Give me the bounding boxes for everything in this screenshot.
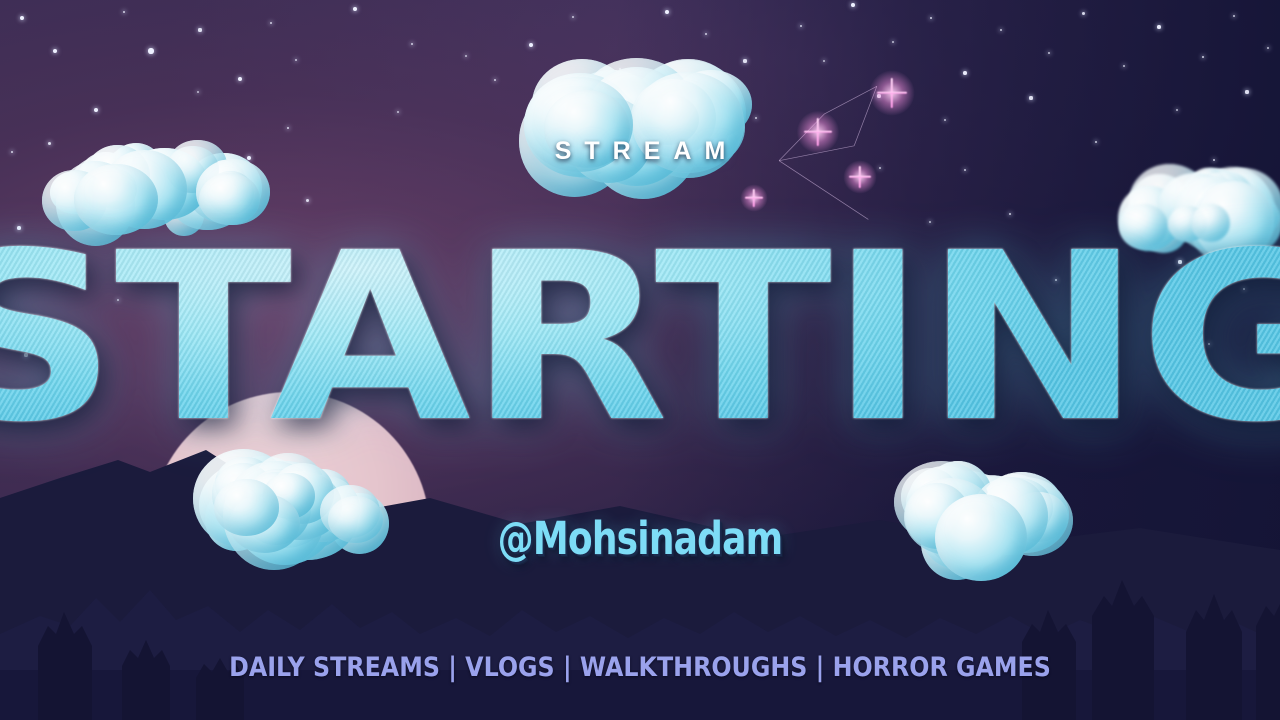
sparkle-star-icon xyxy=(849,166,871,188)
star xyxy=(1000,29,1002,31)
page-title: STARTING xyxy=(0,222,1280,454)
cloud-top-center xyxy=(506,60,750,210)
cloud-bottom-left xyxy=(186,452,412,586)
star xyxy=(572,16,574,18)
star xyxy=(287,127,290,130)
star xyxy=(1082,12,1085,15)
star xyxy=(529,43,533,47)
sparkle-star-icon xyxy=(877,78,907,108)
star xyxy=(1245,90,1248,93)
star xyxy=(851,3,855,7)
star xyxy=(238,77,243,82)
star xyxy=(892,41,894,43)
cloud-puff xyxy=(214,479,279,535)
star xyxy=(94,108,98,112)
star xyxy=(1123,65,1125,67)
star xyxy=(1157,25,1161,29)
star xyxy=(1267,47,1269,49)
star xyxy=(270,22,273,25)
star xyxy=(944,119,946,121)
star xyxy=(353,7,357,11)
title-starting: STARTING xyxy=(0,222,1280,454)
cloud-puff xyxy=(935,494,1027,581)
stream-starting-overlay: STREAM STARTING @Mohsinadam DAILY STREAM… xyxy=(0,0,1280,720)
star xyxy=(397,111,399,113)
star xyxy=(123,11,126,14)
cloud-puff xyxy=(328,496,383,543)
star xyxy=(930,17,933,20)
star xyxy=(823,60,825,62)
cloud-bottom-right xyxy=(892,464,1092,586)
star xyxy=(411,43,414,46)
tagline: DAILY STREAMS | VLOGS | WALKTHROUGHS | H… xyxy=(77,652,1203,683)
star xyxy=(494,79,497,82)
star xyxy=(1048,52,1050,54)
star xyxy=(1176,109,1178,111)
star xyxy=(964,169,966,171)
star xyxy=(665,10,669,14)
star xyxy=(53,49,58,54)
star xyxy=(1233,15,1235,17)
star xyxy=(295,59,297,61)
star xyxy=(148,48,153,53)
kicker-stream: STREAM xyxy=(0,137,1280,166)
star xyxy=(800,25,803,28)
star xyxy=(465,55,467,57)
star xyxy=(1029,96,1032,99)
star xyxy=(198,28,201,31)
star xyxy=(963,71,967,75)
star xyxy=(1202,56,1205,59)
star xyxy=(705,33,708,36)
star xyxy=(20,16,24,20)
star xyxy=(197,91,199,93)
star xyxy=(306,199,309,202)
